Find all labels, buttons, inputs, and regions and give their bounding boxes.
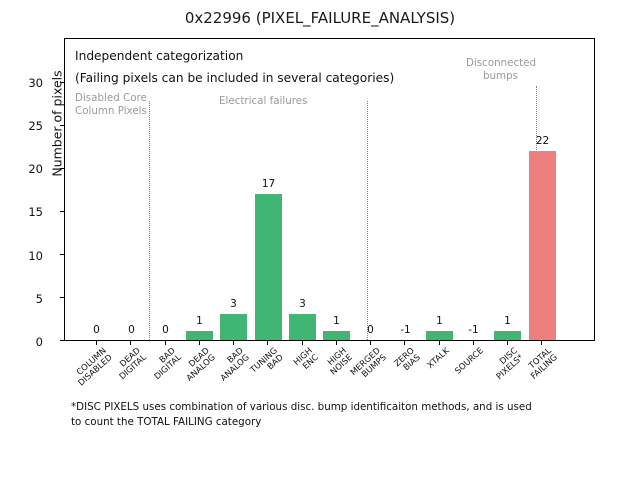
y-tick-label: 25 — [0, 119, 43, 133]
bar-value-label: 0 — [152, 324, 179, 336]
bar-total-failing — [529, 151, 556, 340]
bar-xtalk — [426, 331, 453, 340]
x-tick-mark — [199, 341, 200, 345]
bar-value-label: 1 — [186, 315, 213, 327]
bar-value-label: 3 — [289, 298, 316, 310]
x-tick-mark — [439, 341, 440, 345]
footnote: *DISC PIXELS uses combination of various… — [71, 400, 591, 430]
bar-value-label: -1 — [392, 324, 419, 336]
bar-value-label: 0 — [357, 324, 384, 336]
bar-value-label: 17 — [255, 178, 282, 190]
bar-value-label: 1 — [323, 315, 350, 327]
plot-area: Independent categorization (Failing pixe… — [64, 38, 595, 341]
y-tick-label: 5 — [0, 292, 43, 306]
x-tick-mark — [404, 341, 405, 345]
divider-line-electrical — [367, 101, 368, 340]
x-tick-mark — [233, 341, 234, 345]
bar-disc-pixels — [494, 331, 521, 340]
bar-value-label: 3 — [220, 298, 247, 310]
y-tick-label: 0 — [0, 335, 43, 349]
x-tick-mark — [473, 341, 474, 345]
bar-high-enc — [289, 314, 316, 340]
annotation-headline-2: (Failing pixels can be included in sever… — [75, 71, 394, 85]
annotation-group-disconnected-l1: Disconnected — [466, 57, 536, 69]
x-tick-mark — [507, 341, 508, 345]
annotation-group-disabled-core-l2: Column Pixels — [75, 105, 147, 117]
y-tick-label: 30 — [0, 76, 43, 90]
page-title: 0x22996 (PIXEL_FAILURE_ANALYSIS) — [0, 9, 640, 27]
annotation-headline-1: Independent categorization — [75, 49, 243, 63]
bar-value-label: 0 — [118, 324, 145, 336]
annotation-group-disabled-core-l1: Disabled Core — [75, 92, 147, 104]
bar-bad-analog — [220, 314, 247, 340]
footnote-line-2: to count the TOTAL FAILING category — [71, 415, 591, 430]
y-tick-label: 15 — [0, 205, 43, 219]
bar-value-label: 1 — [494, 315, 521, 327]
footnote-line-1: *DISC PIXELS uses combination of various… — [71, 400, 591, 415]
annotation-group-disconnected-l2: bumps — [483, 70, 518, 82]
bar-high-noise — [323, 331, 350, 340]
x-tick-mark — [267, 341, 268, 345]
x-tick-mark — [96, 341, 97, 345]
bar-value-label: 0 — [83, 324, 110, 336]
plot-clip: Independent categorization (Failing pixe… — [65, 39, 594, 340]
x-tick-mark — [541, 341, 542, 345]
x-tick-mark — [336, 341, 337, 345]
bar-dead-analog — [186, 331, 213, 340]
y-tick-label: 10 — [0, 249, 43, 263]
x-tick-mark — [165, 341, 166, 345]
annotation-group-electrical: Electrical failures — [219, 95, 308, 107]
figure-canvas: 0x22996 (PIXEL_FAILURE_ANALYSIS) Number … — [0, 0, 640, 480]
bar-value-label: -1 — [460, 324, 487, 336]
x-tick-mark — [302, 341, 303, 345]
bar-tuning-bad — [255, 194, 282, 340]
x-tick-mark — [370, 341, 371, 345]
bar-value-label: 1 — [426, 315, 453, 327]
divider-line-disabled-core — [149, 101, 150, 340]
y-tick-label: 20 — [0, 162, 43, 176]
x-tick-mark — [130, 341, 131, 345]
y-axis-label: Number of pixels — [50, 29, 65, 219]
bar-value-label: 22 — [529, 135, 556, 147]
